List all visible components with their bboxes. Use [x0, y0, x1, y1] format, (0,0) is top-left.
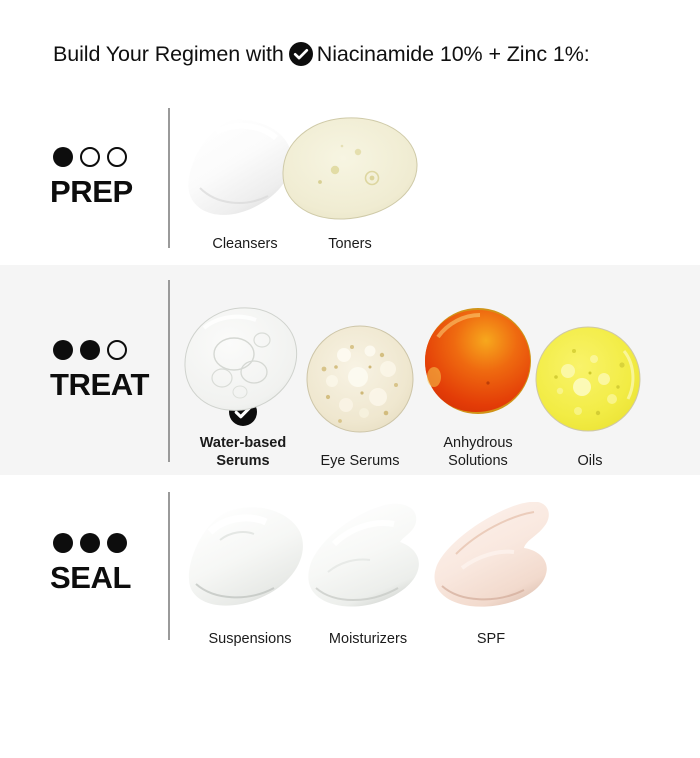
yellow-oil-drop-icon	[534, 325, 646, 433]
product-label-cleansers: Cleansers	[212, 235, 277, 253]
golden-bubble-gel-icon	[300, 325, 420, 433]
page-title-suffix: Niacinamide 10% + Zinc 1%:	[317, 42, 590, 66]
product-row-treat: Water-based Serums	[182, 280, 642, 470]
stage-divider-treat	[168, 280, 170, 462]
blush-cream-smear-icon	[426, 502, 556, 614]
product-item-spf[interactable]: SPF	[426, 502, 556, 648]
stage-marker-prep: PREP	[50, 88, 168, 265]
product-item-suspensions[interactable]: Suspensions	[186, 502, 314, 648]
stage-marker-treat: TREAT	[50, 265, 168, 475]
product-label-spf: SPF	[477, 630, 505, 648]
check-circle-icon	[289, 42, 313, 66]
progress-dot-filled	[80, 533, 100, 553]
progress-dot-empty	[107, 340, 127, 360]
white-cream-smear-icon	[186, 502, 314, 614]
product-item-anhydrous-solutions[interactable]: Anhydrous Solutions	[418, 307, 538, 470]
progress-dot-filled	[53, 147, 73, 167]
product-label-suspensions: Suspensions	[208, 630, 291, 648]
product-label-water-based-serums: Water-based Serums	[200, 434, 286, 470]
product-row-prep: Cleansers Toners	[186, 108, 486, 253]
product-item-oils[interactable]: Oils	[534, 325, 646, 470]
progress-dots-prep	[50, 147, 127, 167]
progress-dots-seal	[50, 533, 127, 553]
progress-dot-filled	[53, 533, 73, 553]
white-cream-smear-2-icon	[304, 502, 432, 614]
product-label-anhydrous-solutions: Anhydrous Solutions	[443, 434, 512, 470]
stage-label-treat: TREAT	[50, 369, 149, 400]
product-label-moisturizers: Moisturizers	[329, 630, 407, 648]
product-label-toners: Toners	[328, 235, 372, 253]
product-label-eye-serums: Eye Serums	[321, 452, 400, 470]
stage-label-prep: PREP	[50, 176, 133, 207]
page-title-prefix: Build Your Regimen with	[53, 42, 284, 66]
progress-dot-filled	[53, 340, 73, 360]
progress-dot-filled	[107, 533, 127, 553]
product-row-seal: Suspensions Moisturizers	[186, 488, 606, 648]
progress-dot-empty	[107, 147, 127, 167]
product-item-moisturizers[interactable]: Moisturizers	[304, 502, 432, 648]
stage-label-seal: SEAL	[50, 562, 131, 593]
progress-dot-filled	[80, 340, 100, 360]
product-item-water-based-serums[interactable]: Water-based Serums	[182, 306, 304, 470]
amber-oil-drop-icon	[418, 307, 538, 415]
stage-marker-seal: SEAL	[50, 475, 168, 758]
stage-divider-seal	[168, 492, 170, 640]
product-label-oils: Oils	[578, 452, 603, 470]
progress-dot-empty	[80, 147, 100, 167]
page-title: Build Your Regimen with Niacinamide 10% …	[53, 42, 590, 66]
clear-gel-drop-icon	[182, 306, 304, 414]
product-item-toners[interactable]: Toners	[280, 116, 420, 253]
stage-divider-prep	[168, 108, 170, 248]
progress-dots-treat	[50, 340, 127, 360]
toner-gel-blob-icon	[280, 116, 420, 221]
product-item-eye-serums[interactable]: Eye Serums	[300, 325, 420, 470]
